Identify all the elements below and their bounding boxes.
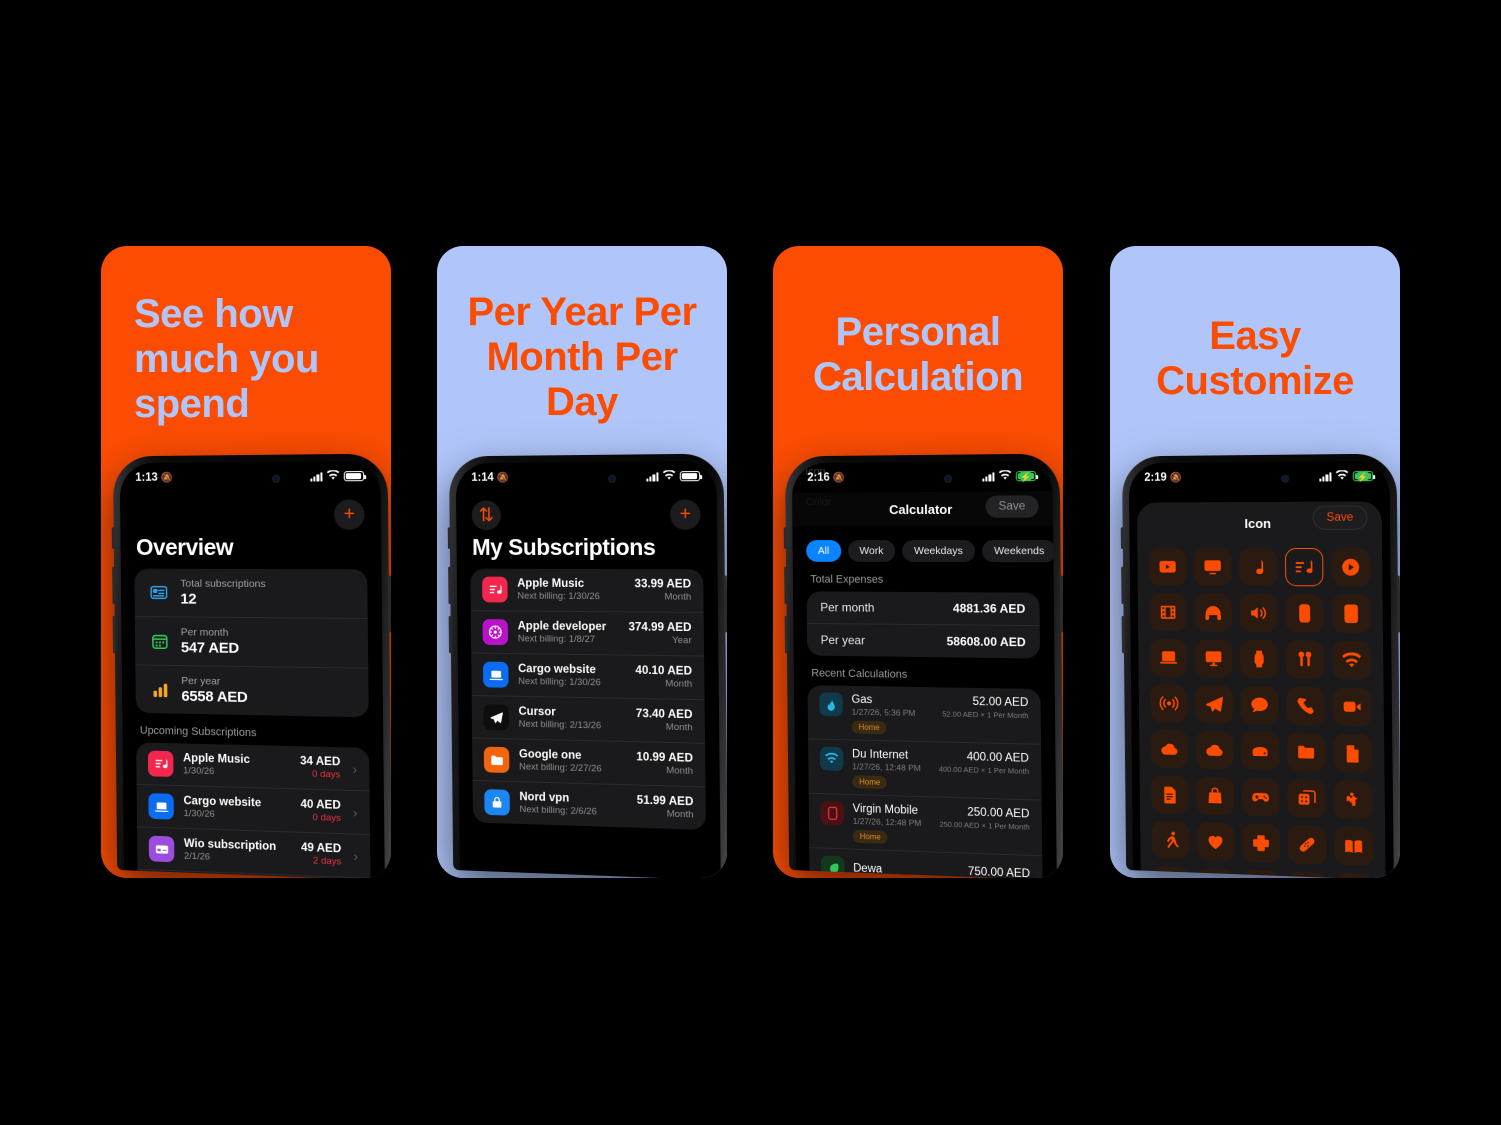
- stat-label: Per month: [181, 626, 239, 639]
- chip-weekdays[interactable]: Weekdays: [902, 540, 975, 562]
- cellular-bars-icon: [1319, 472, 1332, 481]
- highlighter-icon[interactable]: [1242, 869, 1280, 878]
- headphones-icon[interactable]: [1194, 594, 1232, 632]
- front-camera-icon: [272, 474, 280, 482]
- item-amount: 250.00 AED: [939, 805, 1029, 820]
- item-calculation: 250.00 AED × 1 Per Month: [939, 819, 1029, 831]
- total-row: Per month 4881.36 AED: [807, 591, 1040, 625]
- item-date: 1/30/26: [184, 808, 291, 822]
- newspaper-icon[interactable]: [1288, 871, 1327, 878]
- tv-icon[interactable]: [1194, 548, 1232, 586]
- item-name: Apple developer: [518, 620, 619, 633]
- item-next-billing: Next billing: 1/30/26: [518, 676, 625, 689]
- stat-row[interactable]: Per month 547 AED: [135, 616, 368, 668]
- stat-row[interactable]: Per year 6558 AED: [135, 664, 368, 717]
- add-subscription-button[interactable]: +: [670, 499, 701, 529]
- paper-plane-icon: [483, 704, 509, 730]
- phone-mockup: 2:19 🔕 ⚡: [1122, 454, 1400, 878]
- play-circle-icon[interactable]: [1331, 548, 1370, 587]
- upcoming-subscriptions-list: Apple Music 1/30/26 34 AED 0 days ›: [136, 742, 371, 878]
- stat-value: 547 AED: [181, 639, 239, 657]
- airpods-icon[interactable]: [1286, 640, 1325, 679]
- music-note-list-icon[interactable]: [1285, 548, 1324, 586]
- section-label-total-expenses: Total Expenses: [793, 572, 1054, 593]
- battery-full-icon: [344, 471, 364, 481]
- screenshot-stage: See how much you spend 1:13 🔕: [0, 0, 1501, 1125]
- item-days-remaining: 0 days: [301, 812, 341, 824]
- phone-icon[interactable]: [1286, 686, 1325, 725]
- calendar-icon: [149, 630, 171, 652]
- phone-volume-up-button: [448, 567, 451, 604]
- panel-headline: Easy Customize: [1110, 314, 1400, 404]
- pencil-line-icon[interactable]: [1197, 868, 1235, 878]
- phone-volume-down-button: [449, 616, 452, 653]
- video-camera-icon[interactable]: [1333, 687, 1372, 726]
- speaker-wave-icon[interactable]: [1240, 594, 1278, 632]
- front-camera-icon: [608, 474, 616, 482]
- stat-value: 12: [180, 591, 266, 608]
- phone-silent-switch: [1121, 527, 1124, 549]
- top-action-row: ⇅ +: [456, 491, 717, 532]
- status-time: 2:19: [1144, 472, 1166, 484]
- list-item[interactable]: Apple developer Next billing: 1/8/27 374…: [471, 610, 704, 655]
- dice-icon[interactable]: [1287, 779, 1326, 818]
- laptop-icon[interactable]: [1150, 639, 1187, 677]
- phone-mockup: 1:13 🔕 +: [113, 454, 391, 878]
- icon-grid: [1137, 544, 1385, 878]
- status-badge: Home: [853, 830, 888, 844]
- item-period: Year: [629, 634, 692, 646]
- phone-screen: 1:14 🔕 ⇅: [456, 461, 721, 878]
- list-item[interactable]: Gas 1/27/26, 5:36 PM 52.00 AED 52.00 AED…: [808, 685, 1041, 744]
- stat-label: Per year: [181, 675, 247, 688]
- cloud-icon[interactable]: [1151, 730, 1188, 769]
- sheet-title: Icon: [1244, 515, 1271, 530]
- item-amount: 34 AED: [300, 755, 340, 768]
- wifi-icon: [326, 470, 339, 483]
- chevron-right-icon: ›: [353, 805, 358, 820]
- phone-silent-switch: [112, 527, 115, 549]
- item-amount: 33.99 AED: [634, 578, 691, 590]
- item-amount: 750.00 AED: [968, 866, 1030, 878]
- item-name: Cursor: [519, 706, 626, 720]
- chevron-right-icon: ›: [353, 761, 358, 776]
- status-badge: Home: [852, 721, 887, 735]
- list-item[interactable]: Virgin Mobile 1/27/26, 12:48 PM 250.00 A…: [809, 793, 1043, 856]
- panel-headline: Per Year Per Month Per Day: [437, 290, 727, 424]
- item-date: 1/27/26, 5:36 PM: [852, 706, 934, 718]
- iphone-icon[interactable]: [1285, 594, 1324, 633]
- item-period: Month: [636, 764, 693, 777]
- status-bar: 1:13 🔕: [120, 461, 381, 493]
- play-rectangle-icon[interactable]: [1149, 548, 1186, 586]
- list-item[interactable]: Nord vpn Next billing: 2/6/26 51.99 AED …: [473, 780, 706, 830]
- item-period: Month: [635, 591, 692, 602]
- cellular-bars-icon: [646, 472, 659, 481]
- list-item[interactable]: Google one Next billing: 2/27/26 10.99 A…: [472, 737, 705, 786]
- item-next-billing: Next billing: 1/30/26: [517, 591, 624, 603]
- phone-block-icon: [820, 801, 844, 826]
- save-button[interactable]: Save: [1312, 505, 1367, 529]
- status-time: 2:16: [807, 472, 829, 484]
- top-action-row: +: [120, 491, 381, 532]
- cellular-bars-icon: [982, 472, 995, 481]
- battery-full-icon: [680, 471, 700, 481]
- status-bar: 2:19 🔕 ⚡: [1129, 461, 1390, 493]
- status-time: 1:13: [135, 472, 157, 484]
- status-time: 1:14: [471, 472, 493, 484]
- navbar-title: Calculator: [889, 501, 952, 516]
- item-name: Apple Music: [517, 578, 624, 590]
- page-title: Overview: [120, 532, 381, 570]
- bar-chart-icon: [149, 678, 171, 700]
- music-note-icon[interactable]: [1239, 548, 1277, 586]
- chat-bubble-icon[interactable]: [1241, 686, 1279, 725]
- wifi-icon: [820, 747, 844, 771]
- sheet-navigation-bar: Icon Save: [1137, 501, 1382, 544]
- status-bar: 1:14 🔕: [456, 461, 717, 493]
- phone-mockup: 1:14 🔕 ⇅: [449, 454, 727, 878]
- item-name: Virgin Mobile: [853, 802, 931, 816]
- film-icon[interactable]: [1149, 593, 1186, 631]
- laptop-icon: [148, 793, 174, 820]
- item-amount: 400.00 AED: [939, 750, 1029, 764]
- bell-slash-icon: 🔕: [1170, 472, 1182, 483]
- total-value: 4881.36 AED: [953, 601, 1026, 616]
- item-next-billing: Next billing: 1/8/27: [518, 633, 619, 645]
- item-next-billing: Next billing: 2/27/26: [519, 761, 626, 775]
- item-name: Cargo website: [518, 663, 625, 677]
- phone-power-button: [724, 575, 727, 632]
- bell-slash-icon: 🔕: [833, 472, 845, 483]
- section-label-recent-calculations: Recent Calculations: [794, 655, 1055, 689]
- total-row: Per year 58608.00 AED: [807, 623, 1040, 659]
- phone-volume-up-button: [784, 567, 787, 604]
- bandage-icon[interactable]: [1288, 825, 1327, 865]
- desktop-icon[interactable]: [1195, 639, 1233, 677]
- phone-volume-up-button: [112, 567, 115, 604]
- cross-icon[interactable]: [1242, 824, 1280, 863]
- subscriptions-card-icon: [148, 582, 170, 604]
- total-key: Per year: [821, 633, 865, 647]
- item-amount: 73.40 AED: [636, 708, 693, 721]
- overview-stats-card: Total subscriptions 12 Per month 547 AED: [134, 569, 368, 718]
- doc-text-icon[interactable]: [1151, 775, 1188, 814]
- panel-personal-calculation: Personal Calculation Icon Color 2:16 🔕: [773, 246, 1063, 878]
- phone-silent-switch: [448, 527, 451, 549]
- item-name: Gas: [851, 693, 933, 706]
- music-note-list-icon: [482, 577, 508, 603]
- item-next-billing: Next billing: 2/13/26: [519, 719, 626, 732]
- watch-icon[interactable]: [1240, 640, 1278, 679]
- bell-slash-icon: 🔕: [161, 472, 173, 483]
- sort-button[interactable]: ⇅: [472, 500, 501, 530]
- chevron-right-icon: ›: [353, 848, 358, 863]
- icon-picker-sheet: Icon Save: [1137, 501, 1386, 878]
- stat-label: Total subscriptions: [180, 578, 266, 590]
- dynamic-island: [546, 467, 624, 491]
- phone-mockup: Icon Color 2:16 🔕: [785, 454, 1063, 878]
- phone-volume-down-button: [1122, 616, 1125, 653]
- gamepad-icon[interactable]: [1241, 778, 1279, 817]
- page-title: My Subscriptions: [456, 532, 717, 570]
- phone-power-button: [1060, 575, 1063, 632]
- item-date: 1/27/26, 12:48 PM: [853, 815, 931, 827]
- phone-power-button: [1397, 575, 1400, 632]
- folder-icon: [484, 747, 510, 773]
- item-calculation: 52.00 AED × 1 Per Month: [942, 709, 1028, 720]
- wifi-icon: [1335, 470, 1348, 483]
- running-icon[interactable]: [1152, 821, 1189, 860]
- antenna-icon[interactable]: [1150, 684, 1187, 722]
- phone-power-button: [388, 575, 391, 632]
- total-key: Per month: [820, 600, 874, 614]
- battery-charging-icon: ⚡: [1016, 471, 1036, 481]
- heart-icon[interactable]: [1197, 822, 1235, 861]
- item-amount: 51.99 AED: [637, 795, 694, 809]
- bolt-icon: ⚡: [1020, 472, 1032, 480]
- item-date: 1/30/26: [183, 765, 290, 779]
- puzzle-icon[interactable]: [1334, 780, 1373, 820]
- phone-screen: 2:19 🔕 ⚡: [1129, 461, 1394, 878]
- status-bar: 2:16 🔕 ⚡: [792, 461, 1053, 493]
- status-badge: Home: [852, 775, 887, 789]
- item-days-remaining: 2 days: [301, 855, 341, 868]
- laptop-icon: [483, 662, 509, 688]
- recent-calculations-list: Gas 1/27/26, 5:36 PM 52.00 AED 52.00 AED…: [808, 685, 1043, 878]
- bell-slash-icon: 🔕: [497, 472, 509, 483]
- item-next-billing: Next billing: 2/6/26: [520, 804, 627, 818]
- bolt-icon: ⚡: [1357, 472, 1369, 480]
- panel-headline: See how much you spend: [101, 292, 391, 426]
- phone-screen: Icon Color 2:16 🔕: [792, 461, 1057, 878]
- phone-screen: 1:13 🔕 +: [120, 461, 385, 878]
- phone-volume-up-button: [1121, 567, 1124, 604]
- filter-chips: All Work Weekdays Weekends Holid: [792, 526, 1053, 573]
- item-name: Du Internet: [852, 748, 930, 762]
- chip-work[interactable]: Work: [848, 540, 896, 562]
- cloud-fill-icon[interactable]: [1196, 731, 1234, 770]
- item-calculation: 400.00 AED × 1 Per Month: [939, 764, 1029, 775]
- front-camera-icon: [1281, 474, 1289, 482]
- music-note-list-icon: [148, 751, 174, 777]
- panel-headline: Personal Calculation: [773, 310, 1063, 400]
- cellular-bars-icon: [310, 472, 323, 481]
- item-amount: 52.00 AED: [942, 695, 1028, 709]
- wifi-icon: [998, 470, 1011, 483]
- save-button[interactable]: Save: [985, 495, 1038, 517]
- wifi-icon[interactable]: [1332, 641, 1371, 680]
- list-item[interactable]: Apple Music Next billing: 1/30/26 33.99 …: [470, 569, 703, 612]
- total-value: 58608.00 AED: [947, 634, 1026, 649]
- stat-value: 6558 AED: [181, 688, 247, 706]
- dynamic-island: [210, 467, 288, 491]
- list-item[interactable]: Cargo website Next billing: 1/30/26 40.1…: [471, 653, 704, 700]
- phone-volume-down-button: [785, 616, 788, 653]
- item-amount: 49 AED: [301, 842, 341, 856]
- graduation-cap-icon[interactable]: [1152, 866, 1189, 878]
- book-open-icon[interactable]: [1334, 827, 1373, 867]
- item-amount: 10.99 AED: [636, 751, 693, 765]
- stat-row[interactable]: Total subscriptions 12: [134, 569, 367, 618]
- add-subscription-button[interactable]: +: [334, 499, 365, 529]
- paper-plane-icon[interactable]: [1195, 685, 1233, 724]
- wifi-icon: [662, 470, 675, 483]
- item-amount: 40.10 AED: [635, 665, 692, 678]
- list-item[interactable]: Cursor Next billing: 2/13/26 73.40 AED M…: [472, 695, 705, 743]
- item-period: Month: [637, 808, 694, 821]
- list-item[interactable]: Apple Music 1/30/26 34 AED 0 days ›: [136, 742, 369, 790]
- folder-icon[interactable]: [1287, 733, 1326, 772]
- item-days-remaining: 0 days: [300, 768, 340, 780]
- flame-icon: [819, 692, 843, 716]
- dynamic-island: [882, 467, 960, 491]
- dynamic-island: [1219, 467, 1297, 491]
- credit-card-icon: [149, 836, 175, 863]
- leaf-icon: [821, 855, 845, 878]
- ipad-icon[interactable]: [1332, 594, 1371, 633]
- phone-volume-down-button: [113, 616, 116, 653]
- server-icon[interactable]: [1241, 732, 1279, 771]
- item-date: 1/27/26, 12:48 PM: [852, 761, 930, 773]
- item-amount: 374.99 AED: [628, 621, 691, 634]
- bag-icon[interactable]: [1196, 776, 1234, 815]
- item-period: Month: [636, 721, 693, 733]
- list-item[interactable]: Du Internet 1/27/26, 12:48 PM 400.00 AED…: [808, 738, 1041, 799]
- document-icon[interactable]: [1333, 734, 1372, 773]
- panel-easy-customize: Easy Customize 2:19 🔕: [1110, 246, 1400, 878]
- front-camera-icon: [944, 474, 952, 482]
- navigation-bar: Calculator Save: [792, 491, 1053, 526]
- gear-circle-icon: [483, 619, 509, 645]
- panel-per-year-per-month-per-day: Per Year Per Month Per Day 1:14 🔕: [437, 246, 727, 878]
- battery-charging-icon: ⚡: [1353, 471, 1373, 481]
- chip-all[interactable]: All: [806, 540, 841, 562]
- item-name: Dewa: [853, 862, 959, 878]
- lock-icon: [484, 789, 510, 816]
- chip-weekends[interactable]: Weekends: [982, 540, 1054, 562]
- total-expenses-card: Per month 4881.36 AED Per year 58608.00 …: [807, 591, 1041, 658]
- subscriptions-list: Apple Music Next billing: 1/30/26 33.99 …: [470, 569, 706, 830]
- phone-silent-switch: [784, 527, 787, 549]
- book-closed-icon[interactable]: [1335, 873, 1374, 878]
- item-amount: 40 AED: [300, 799, 340, 812]
- item-period: Month: [636, 678, 693, 690]
- panel-see-how-much-you-spend: See how much you spend 1:13 🔕: [101, 246, 391, 878]
